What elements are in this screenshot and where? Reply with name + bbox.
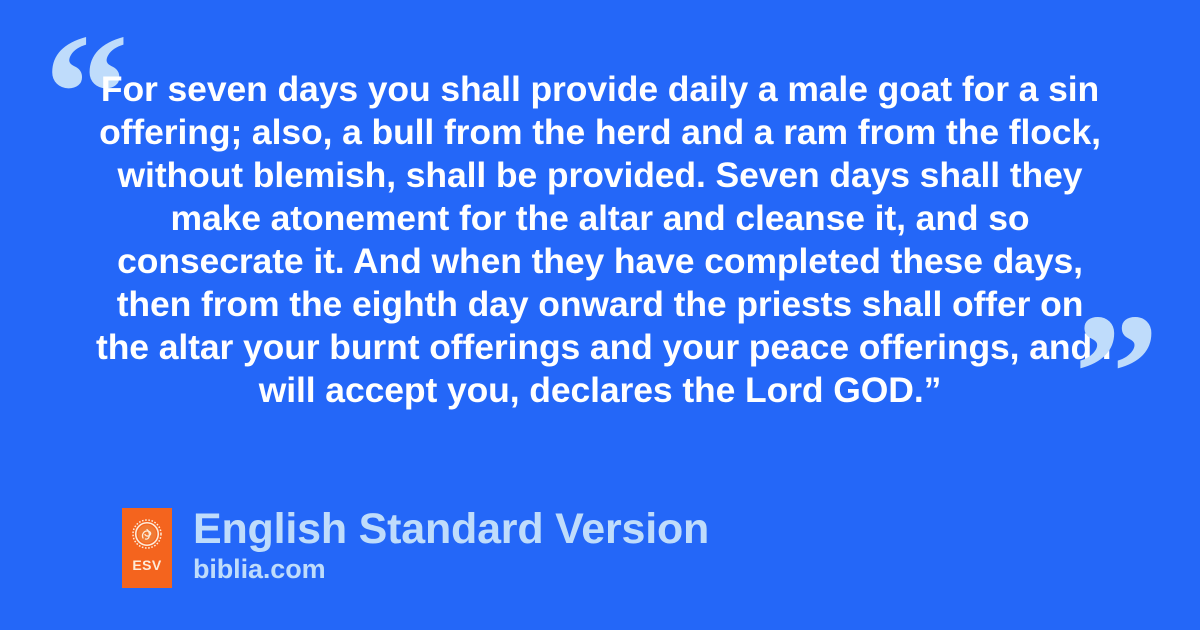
esv-badge-label: ESV <box>132 558 161 572</box>
closing-quote-icon: ” <box>1074 288 1159 458</box>
quote-line: without blemish, shall be provided. Seve… <box>96 154 1104 197</box>
quote-line: For seven days you shall provide daily a… <box>96 68 1104 111</box>
quote-text: For seven days you shall provide daily a… <box>96 68 1104 412</box>
footer-text-block: English Standard Version biblia.com <box>193 508 709 584</box>
bible-version-name: English Standard Version <box>193 505 709 553</box>
quote-line: the altar your burnt offerings and your … <box>96 326 1104 369</box>
site-url[interactable]: biblia.com <box>193 554 709 584</box>
quote-line: make atonement for the altar and cleanse… <box>96 197 1104 240</box>
quote-line: then from the eighth day onward the prie… <box>96 283 1104 326</box>
attribution-footer: ESV English Standard Version biblia.com <box>122 508 709 588</box>
quote-line: will accept you, declares the Lord GOD.” <box>96 369 1104 412</box>
bible-verse-card: “ For seven days you shall provide daily… <box>0 0 1200 630</box>
quote-line: consecrate it. And when they have comple… <box>96 240 1104 283</box>
quote-line: offering; also, a bull from the herd and… <box>96 111 1104 154</box>
seal-emblem-icon <box>132 519 162 549</box>
esv-badge: ESV <box>122 508 172 588</box>
